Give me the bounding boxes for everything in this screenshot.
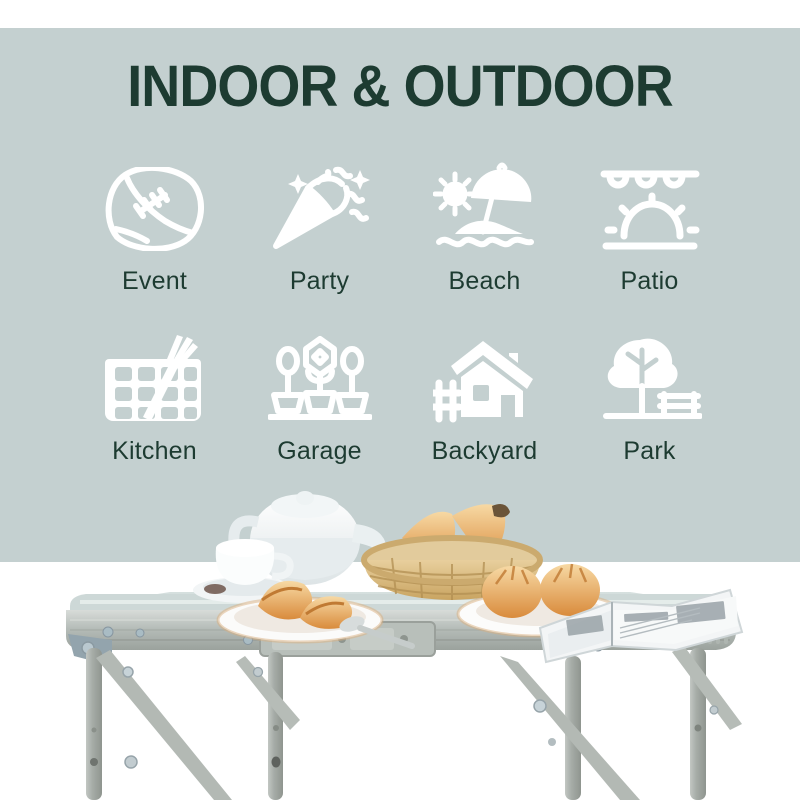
use-case-item-event[interactable]: Event [72, 156, 237, 326]
use-case-item-kitchen[interactable]: Kitchen [72, 326, 237, 486]
use-case-label: Event [122, 269, 187, 294]
use-case-label: Kitchen [112, 439, 197, 464]
use-case-item-party[interactable]: Party [237, 156, 402, 326]
use-case-item-park[interactable]: Park [567, 326, 732, 486]
awning-sunset-icon [595, 156, 705, 261]
product-infographic: INDOOR & OUTDOOR [0, 0, 800, 800]
use-case-row: Event [72, 156, 732, 326]
use-case-item-patio[interactable]: Patio [567, 156, 732, 326]
product-photo [0, 480, 800, 800]
use-case-grid: Event [72, 156, 732, 486]
use-case-label: Beach [449, 269, 521, 294]
tree-bench-icon [595, 326, 705, 431]
use-case-label: Park [623, 439, 675, 464]
utensil-holder-icon [100, 326, 210, 431]
use-case-label: Garage [277, 439, 362, 464]
use-case-label: Backyard [432, 439, 538, 464]
use-case-item-backyard[interactable]: Backyard [402, 326, 567, 486]
use-case-label: Patio [621, 269, 679, 294]
beach-umbrella-icon [430, 156, 540, 261]
use-case-row: Kitchen [72, 326, 732, 486]
use-case-label: Party [290, 269, 349, 294]
football-icon [100, 156, 210, 261]
use-case-item-garage[interactable]: Garage [237, 326, 402, 486]
potted-plants-icon [265, 326, 375, 431]
table-leg-left-rear [268, 652, 283, 800]
house-fence-icon [430, 326, 540, 431]
table-leg-left-front [86, 648, 102, 800]
page-title: INDOOR & OUTDOOR [28, 58, 772, 116]
party-popper-icon [265, 156, 375, 261]
use-case-item-beach[interactable]: Beach [402, 156, 567, 326]
